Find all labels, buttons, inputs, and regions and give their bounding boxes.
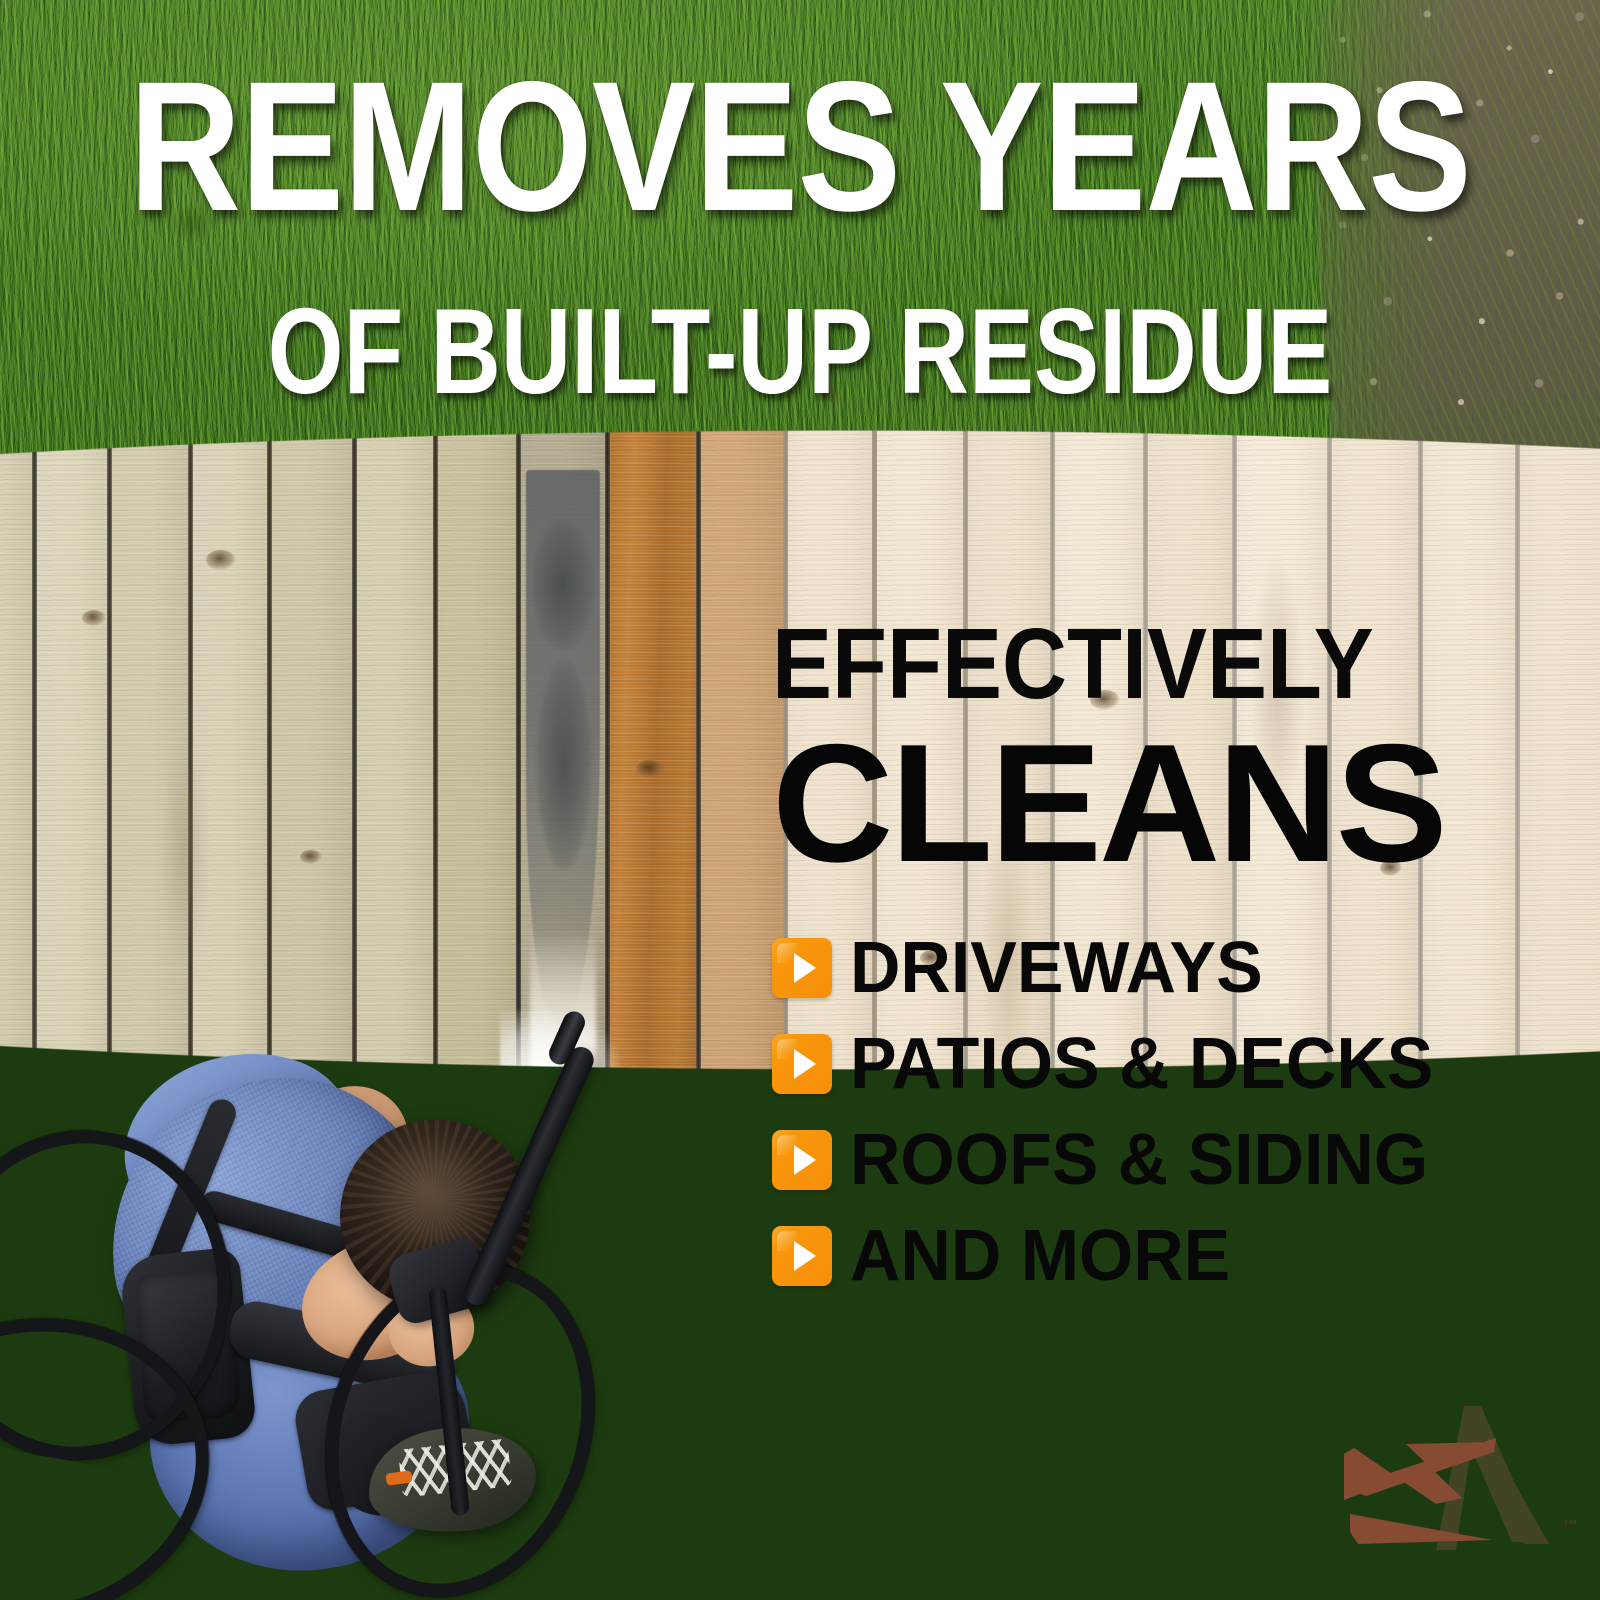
list-item[interactable]: PATIOS & DECKS bbox=[772, 1016, 1552, 1112]
list-item-label: DRIVEWAYS bbox=[850, 932, 1263, 1004]
headline-secondary: OF BUILT-UP RESIDUE bbox=[160, 290, 1440, 412]
headline-primary: REMOVES YEARS bbox=[128, 62, 1472, 232]
play-triangle-icon bbox=[772, 1226, 832, 1286]
list-item[interactable]: ROOFS & SIDING bbox=[772, 1112, 1552, 1208]
play-triangle-icon bbox=[772, 1034, 832, 1094]
wood-grain bbox=[160, 730, 210, 970]
promo-panel: EFFECTIVELY CLEANS DRIVEWAYS PATIOS & DE… bbox=[772, 614, 1552, 1304]
advertisement-creative: REMOVES YEARS OF BUILT-UP RESIDUE EFFECT… bbox=[0, 0, 1600, 1600]
play-triangle-icon bbox=[772, 938, 832, 998]
wood-knot bbox=[300, 850, 322, 864]
ra-monogram-logo[interactable] bbox=[1344, 1392, 1580, 1592]
list-item-label: PATIOS & DECKS bbox=[850, 1028, 1433, 1100]
plank bbox=[701, 430, 783, 1600]
fence-dirt-spot bbox=[536, 660, 592, 870]
wood-knot bbox=[636, 760, 664, 778]
benefits-list: DRIVEWAYS PATIOS & DECKS ROOFS & SIDING … bbox=[772, 920, 1552, 1304]
wood-knot bbox=[82, 610, 106, 626]
promo-headline: CLEANS bbox=[772, 724, 1552, 884]
fence-dirt-spot bbox=[532, 520, 594, 650]
list-item-label: AND MORE bbox=[850, 1220, 1230, 1292]
promo-eyebrow: EFFECTIVELY bbox=[772, 614, 1474, 714]
list-item[interactable]: DRIVEWAYS bbox=[772, 920, 1552, 1016]
list-item[interactable]: AND MORE bbox=[772, 1208, 1552, 1304]
trademark-symbol: ™ bbox=[1563, 1517, 1578, 1534]
play-triangle-icon bbox=[772, 1130, 832, 1190]
wood-knot bbox=[206, 550, 236, 570]
logo-r-tail bbox=[1350, 1514, 1492, 1544]
list-item-label: ROOFS & SIDING bbox=[850, 1124, 1428, 1196]
